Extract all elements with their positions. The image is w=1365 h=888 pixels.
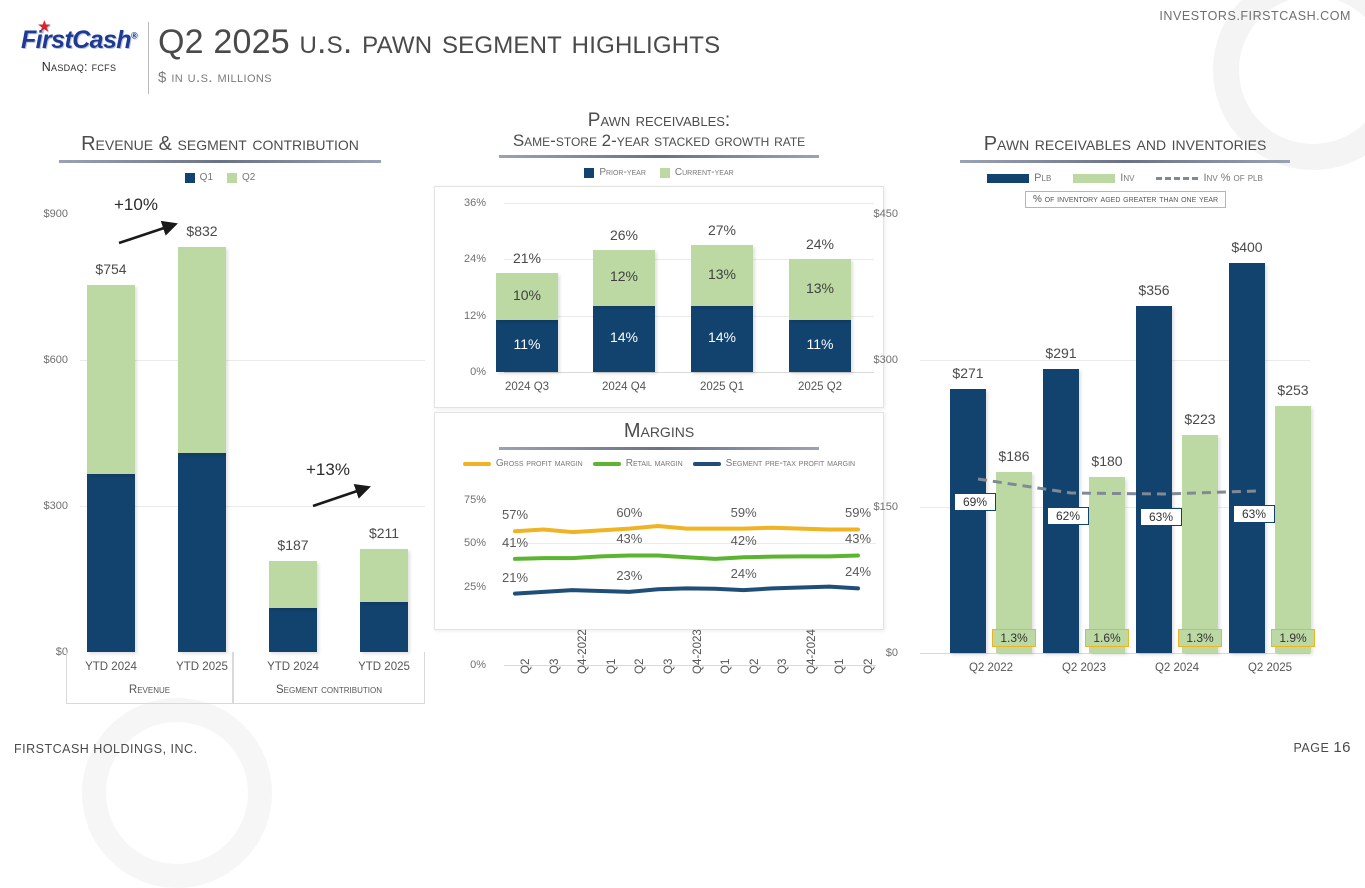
decorative-ring-bottom-left <box>82 698 272 888</box>
chart1-ytick: $600 <box>10 354 68 366</box>
chart1-bar-q2 <box>87 285 135 474</box>
chart1-group-name-segment: Segment Contribution <box>233 684 425 696</box>
chart3-xtick: Q4-2022 <box>577 629 589 674</box>
chart2-ytick: 36% <box>434 197 486 209</box>
chart2-ytick: 12% <box>434 310 486 322</box>
chart2-label-prior-year: 11% <box>492 336 562 352</box>
footer-page-label: PAGE <box>1294 741 1330 755</box>
chart2-xtick: 2024 Q3 <box>482 381 572 393</box>
chart1-bar-q1 <box>269 608 317 652</box>
chart3-annotation: 23% <box>603 568 655 583</box>
chart2-xtick: 2024 Q4 <box>579 381 669 393</box>
chart3-xtick: Q2 <box>520 659 532 674</box>
investor-site-url: INVESTORS.FIRSTCASH.COM <box>1159 9 1351 23</box>
chart3-xtick: Q3 <box>777 659 789 674</box>
chart3-xtick: Q4-2023 <box>692 629 704 674</box>
chart1-annotation-revenue: +10% <box>114 195 158 215</box>
chart4-inv-pct-box: 63% <box>1140 508 1182 526</box>
chart1-total-label: $832 <box>157 223 247 239</box>
chart2-label-current-year: 13% <box>785 280 855 296</box>
footer-company: FIRSTCASH HOLDINGS, INC. <box>14 742 198 756</box>
slide-root: INVESTORS.FIRSTCASH.COM ★FirstCash® NASD… <box>0 0 1365 768</box>
chart3-plot: 75%50%25%0%57%60%59%59%41%43%42%43%21%23… <box>434 420 884 720</box>
chart2-ytick: 0% <box>434 366 486 378</box>
chart3-xtick: Q2 <box>634 659 646 674</box>
chart1-ytick: $300 <box>10 500 68 512</box>
chart2-plot: 0%12%24%36%11%10%21%2024 Q314%12%26%2024… <box>434 110 884 410</box>
chart2-axis <box>504 372 874 373</box>
chart1-bar-q1 <box>87 474 135 652</box>
chart1-total-label: $187 <box>248 537 338 553</box>
chart3-xtick: Q1 <box>720 659 732 674</box>
chart3-annotation: 24% <box>718 566 770 581</box>
chart2-ytick: 24% <box>434 253 486 265</box>
chart3-series-retail-margin <box>515 555 858 558</box>
chart2-total-label: 21% <box>487 250 567 266</box>
chart1-ytick: $900 <box>10 208 68 220</box>
chart4-inv-pct-box: 62% <box>1047 507 1089 525</box>
chart2-label-prior-year: 14% <box>589 329 659 345</box>
chart3-annotation: 24% <box>832 564 884 579</box>
ticker-label: NASDAQ: FCFS <box>14 60 144 74</box>
chart2-label-current-year: 12% <box>589 268 659 284</box>
chart4-inv-pct-line <box>890 133 1360 708</box>
chart4-inv-pct-box: 63% <box>1233 505 1275 523</box>
chart3-annotation: 41% <box>489 535 541 550</box>
chart3-xtick: Q3 <box>549 659 561 674</box>
chart4-inv-pct-box: 69% <box>954 493 996 511</box>
chart3-annotation: 21% <box>489 570 541 585</box>
chart-margins: Margins Gross Profit Margin Retail Margi… <box>434 420 884 720</box>
footer-page-number: 16 <box>1333 739 1351 756</box>
firstcash-wordmark: ★FirstCash® <box>21 28 137 53</box>
chart2-xtick: 2025 Q2 <box>775 381 865 393</box>
title-block: Q2 2025 U.S. Pawn Segment Highlights $ i… <box>158 24 720 86</box>
chart1-bar-q2 <box>360 549 408 602</box>
chart1-bar-q1 <box>360 602 408 652</box>
chart4-plot: $0$150$300$450$271$186Q2 20221.3%$291$18… <box>890 133 1360 708</box>
chart3-xtick: Q4-2024 <box>806 629 818 674</box>
chart-revenue-segment-contribution: Revenue & Segment Contribution Q1 Q2 $0$… <box>10 133 430 708</box>
chart1-group-name-revenue: Revenue <box>66 684 233 696</box>
chart2-label-prior-year: 14% <box>687 329 757 345</box>
registered-mark: ® <box>131 31 137 41</box>
chart3-xtick: Q2 <box>749 659 761 674</box>
chart1-group-box-revenue <box>66 652 233 704</box>
chart2-total-label: 27% <box>682 222 762 238</box>
chart3-xtick: Q2 <box>863 659 875 674</box>
chart3-annotation: 59% <box>718 505 770 520</box>
chart2-label-current-year: 13% <box>687 266 757 282</box>
chart3-annotation: 43% <box>603 531 655 546</box>
chart1-total-label: $754 <box>66 261 156 277</box>
header-divider <box>148 22 149 94</box>
star-icon: ★ <box>38 19 50 33</box>
chart3-annotation: 43% <box>832 531 884 546</box>
chart2-total-label: 26% <box>584 227 664 243</box>
chart2-xtick: 2025 Q1 <box>677 381 767 393</box>
chart1-bar-q2 <box>269 561 317 608</box>
chart3-xtick: Q1 <box>834 659 846 674</box>
chart3-series-gross-profit-margin <box>515 526 858 532</box>
page-title: Q2 2025 U.S. Pawn Segment Highlights <box>158 24 720 61</box>
chart3-series-segment-pre-tax-profit-margin <box>515 587 858 594</box>
chart1-bar-q2 <box>178 247 226 453</box>
chart2-gridline <box>504 203 874 204</box>
chart3-annotation: 57% <box>489 507 541 522</box>
chart3-xtick: Q1 <box>606 659 618 674</box>
chart3-annotation: 42% <box>718 533 770 548</box>
chart1-ytick: $0 <box>10 646 68 658</box>
chart1-plot: $0$300$600$900$754YTD 2024$832YTD 2025$1… <box>10 133 430 708</box>
chart1-bar-q1 <box>178 453 226 652</box>
chart2-label-current-year: 10% <box>492 287 562 303</box>
chart2-label-prior-year: 11% <box>785 336 855 352</box>
company-logo: ★FirstCash® NASDAQ: FCFS <box>14 28 144 74</box>
chart3-xtick: Q3 <box>663 659 675 674</box>
footer-page: PAGE 16 <box>1294 739 1351 756</box>
chart1-annotation-segment: +13% <box>306 460 350 480</box>
chart1-group-box-segment <box>233 652 425 704</box>
chart1-total-label: $211 <box>339 525 429 541</box>
chart-pawn-receivables-growth: Pawn Receivables: Same-Store 2-Year Stac… <box>434 110 884 410</box>
page-subtitle: $ in U.S. Millions <box>158 69 720 86</box>
chart3-annotation: 60% <box>603 505 655 520</box>
chart2-total-label: 24% <box>780 236 860 252</box>
chart-pawn-receivables-inventories: Pawn Receivables and Inventories PLB INV… <box>890 133 1360 708</box>
